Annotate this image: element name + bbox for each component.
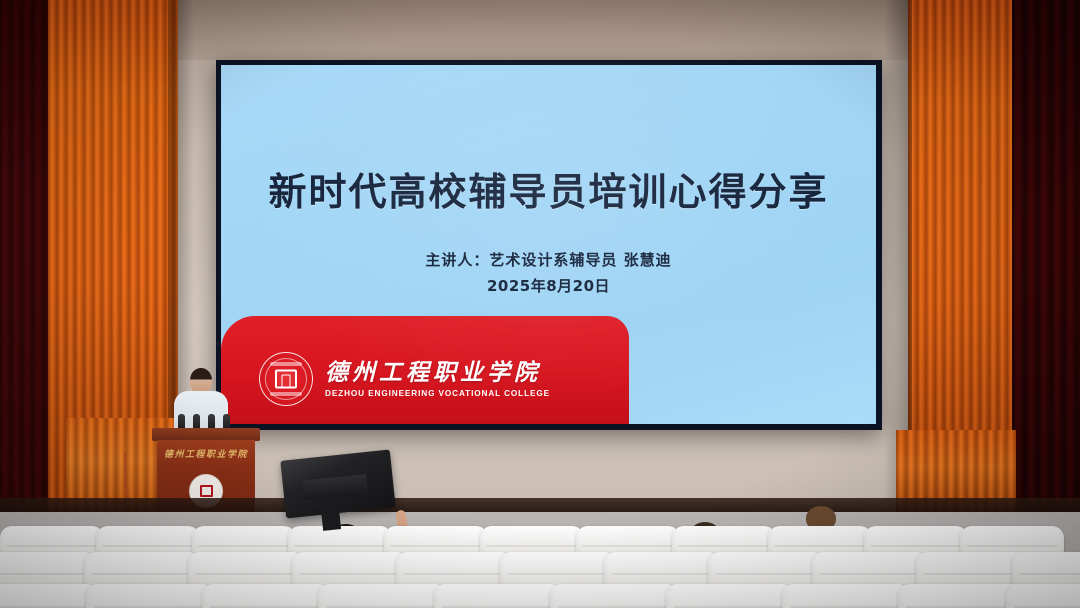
audience-seating	[0, 496, 1080, 608]
podium-college-name: 德州工程职业学院	[157, 447, 255, 460]
upper-wall-band	[170, 0, 930, 60]
audience-seat	[86, 584, 214, 608]
audience-seat	[550, 584, 678, 608]
monitor-stand	[321, 507, 341, 531]
audience-seat	[318, 584, 446, 608]
slide-date-line: 2025年8月20日	[221, 275, 876, 296]
banner-logo-group: 德州工程职业学院 DEZHOU ENGINEERING VOCATIONAL C…	[259, 352, 550, 406]
curtain-dark-left	[0, 0, 52, 512]
college-crest-icon	[259, 352, 313, 406]
audience-seat	[434, 584, 562, 608]
auditorium-scene: 新时代高校辅导员培训心得分享 主讲人：艺术设计系辅导员 张慧迪 2025年8月2…	[0, 0, 1080, 608]
slide-footer-banner: 德州工程职业学院 DEZHOU ENGINEERING VOCATIONAL C…	[221, 316, 629, 424]
college-name-en: DEZHOU ENGINEERING VOCATIONAL COLLEGE	[325, 389, 550, 398]
curtain-dark-right	[1012, 0, 1080, 512]
crest-core-icon	[275, 370, 297, 389]
audience-seat	[666, 584, 794, 608]
college-name-group: 德州工程职业学院 DEZHOU ENGINEERING VOCATIONAL C…	[325, 360, 550, 397]
audience-seat	[782, 584, 910, 608]
crest-arc-bottom-icon	[270, 392, 302, 396]
slide-presenter-line: 主讲人：艺术设计系辅导员 张慧迪	[221, 249, 876, 270]
audience-seat	[202, 584, 330, 608]
audience-seat	[1006, 584, 1080, 608]
audience-seat	[0, 584, 98, 608]
college-name-cn: 德州工程职业学院	[325, 360, 550, 385]
projection-screen: 新时代高校辅导员培训心得分享 主讲人：艺术设计系辅导员 张慧迪 2025年8月2…	[216, 60, 882, 430]
slide-title: 新时代高校辅导员培训心得分享	[221, 161, 876, 216]
presentation-slide: 新时代高校辅导员培训心得分享 主讲人：艺术设计系辅导员 张慧迪 2025年8月2…	[221, 65, 876, 424]
crest-arc-top-icon	[270, 362, 302, 366]
